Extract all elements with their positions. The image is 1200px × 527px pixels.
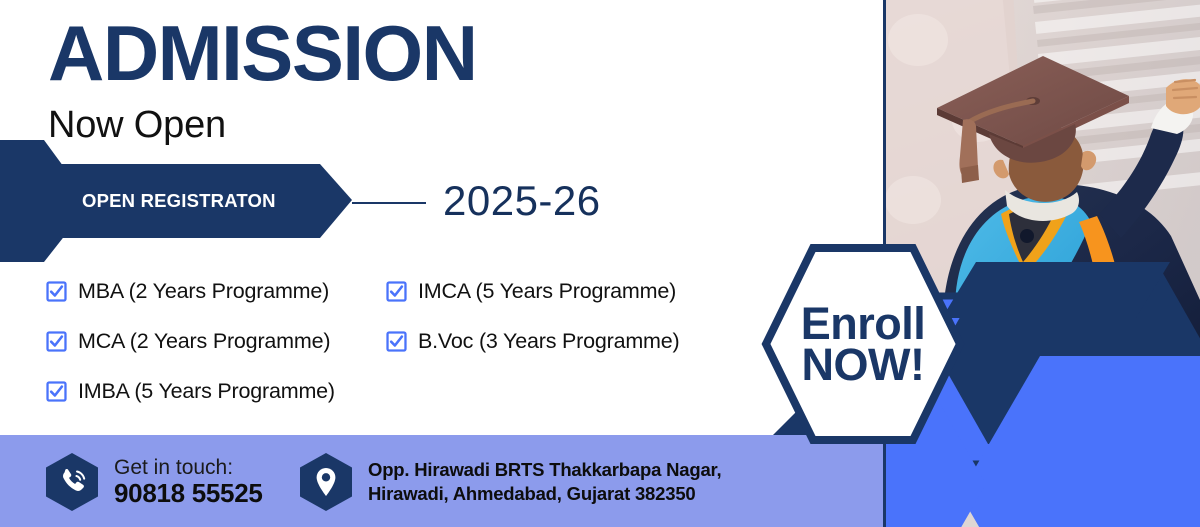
- map-pin-icon: [298, 452, 354, 512]
- checkbox-checked-icon: [46, 381, 67, 402]
- course-item[interactable]: MCA (2 Years Programme): [46, 316, 335, 366]
- phone-icon: [44, 452, 100, 512]
- ribbon-label: OPEN REGISTRATON: [82, 190, 276, 212]
- footer-contact-bar: Get in touch: 90818 55525 Opp. Hirawadi …: [0, 435, 883, 527]
- checkbox-checked-icon: [46, 281, 67, 302]
- admission-banner: Enroll NOW! ADMISSION Now Open OPEN REGI…: [0, 0, 1200, 527]
- course-item[interactable]: IMBA (5 Years Programme): [46, 366, 335, 416]
- course-item[interactable]: MBA (2 Years Programme): [46, 266, 335, 316]
- academic-year: 2025-26: [443, 177, 601, 225]
- enroll-label-line1: Enroll: [801, 303, 926, 344]
- course-column-right: IMCA (5 Years Programme) B.Voc (3 Years …: [386, 266, 679, 366]
- contact-block[interactable]: Get in touch: 90818 55525: [44, 452, 263, 512]
- course-label: IMBA (5 Years Programme): [78, 379, 335, 404]
- checkbox-checked-icon: [386, 281, 407, 302]
- address-line-1: Opp. Hirawadi BRTS Thakkarbapa Nagar,: [368, 458, 721, 482]
- contact-phone-number[interactable]: 90818 55525: [114, 479, 263, 508]
- checkbox-checked-icon: [386, 331, 407, 352]
- address-block[interactable]: Opp. Hirawadi BRTS Thakkarbapa Nagar, Hi…: [298, 452, 721, 512]
- course-label: B.Voc (3 Years Programme): [418, 329, 679, 354]
- course-item[interactable]: B.Voc (3 Years Programme): [386, 316, 679, 366]
- course-label: MCA (2 Years Programme): [78, 329, 330, 354]
- enroll-label-line2: NOW!: [802, 344, 925, 385]
- course-column-left: MBA (2 Years Programme) MCA (2 Years Pro…: [46, 266, 335, 416]
- course-label: MBA (2 Years Programme): [78, 279, 329, 304]
- checkbox-checked-icon: [46, 331, 67, 352]
- contact-caption: Get in touch:: [114, 456, 263, 480]
- enroll-now-badge[interactable]: Enroll NOW!: [757, 243, 969, 445]
- course-item[interactable]: IMCA (5 Years Programme): [386, 266, 679, 316]
- address-line-2: Hirawadi, Ahmedabad, Gujarat 382350: [368, 482, 721, 506]
- year-connector-line: [352, 202, 426, 204]
- page-title: ADMISSION: [48, 14, 477, 92]
- course-label: IMCA (5 Years Programme): [418, 279, 676, 304]
